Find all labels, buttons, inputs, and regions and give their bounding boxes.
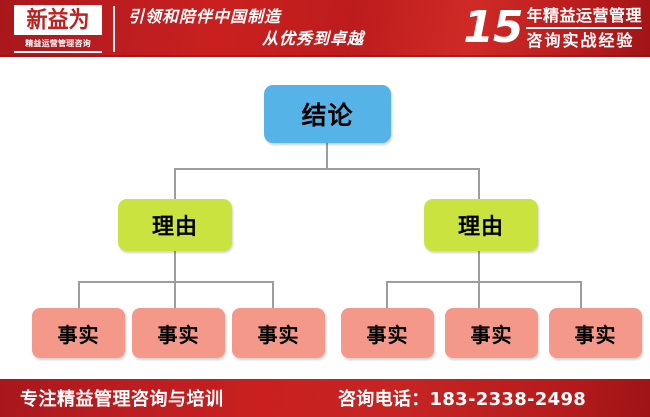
connector-reason-bar [174,168,480,170]
years-number: 15 [463,6,522,50]
node-fact-right-1[interactable]: 事实 [341,308,434,358]
connector-left-reason-stem [174,250,176,281]
connector-right-fact-2-drop [478,281,480,308]
connector-right-fact-1-drop [386,281,388,308]
footer-banner: 专注精益管理咨询与培训 咨询电话：183-2338-2498 [0,379,650,417]
node-conclusion[interactable]: 结论 [264,85,391,143]
slide-page: 新益为 精益运营管理咨询 引领和陪伴中国制造 从优秀到卓越 15 年精益运营管理… [0,0,650,417]
diagram-canvas: 结论 理由 理由 事实 事实 事实 事实 事实 事实 [0,57,650,379]
connector-reason-left-drop [174,168,176,199]
connector-left-fact-2-drop [174,281,176,308]
slogan-line-1: 引领和陪伴中国制造 [124,6,374,28]
company-logo: 新益为 精益运营管理咨询 [14,5,102,53]
footer-phone: 咨询电话：183-2338-2498 [338,385,586,411]
connector-reason-right-drop [478,168,480,199]
logo-subtitle: 精益运营管理咨询 [14,36,102,50]
header-slogan: 引领和陪伴中国制造 从优秀到卓越 [124,6,374,52]
connector-right-facts-bar [386,281,582,283]
node-reason-left[interactable]: 理由 [118,199,232,251]
node-fact-left-2[interactable]: 事实 [132,308,225,358]
years-line-2: 咨询实战经验 [526,29,642,51]
header-banner: 新益为 精益运营管理咨询 引领和陪伴中国制造 从优秀到卓越 15 年精益运营管理… [0,0,650,57]
logo-text: 新益为 [27,9,90,32]
slogan-line-2: 从优秀到卓越 [124,28,374,50]
node-fact-left-3[interactable]: 事实 [232,308,325,358]
connector-left-fact-1-drop [78,281,80,308]
node-fact-left-1[interactable]: 事实 [32,308,125,358]
connector-left-facts-bar [78,281,274,283]
node-fact-right-3[interactable]: 事实 [549,308,642,358]
experience-badge: 15 年精益运营管理 咨询实战经验 [463,2,642,54]
connector-right-reason-stem [478,250,480,281]
connector-right-fact-3-drop [580,281,582,308]
connector-left-fact-3-drop [272,281,274,308]
connector-root-stem [326,143,328,168]
footer-tagline: 专注精益管理咨询与培训 [20,385,224,411]
years-line-1: 年精益运营管理 [526,5,642,29]
years-text: 年精益运营管理 咨询实战经验 [526,5,642,51]
logo-underline [14,51,102,53]
logo-mark: 新益为 [14,5,102,35]
node-reason-right[interactable]: 理由 [424,199,538,251]
header-divider [113,6,115,52]
node-fact-right-2[interactable]: 事实 [445,308,538,358]
